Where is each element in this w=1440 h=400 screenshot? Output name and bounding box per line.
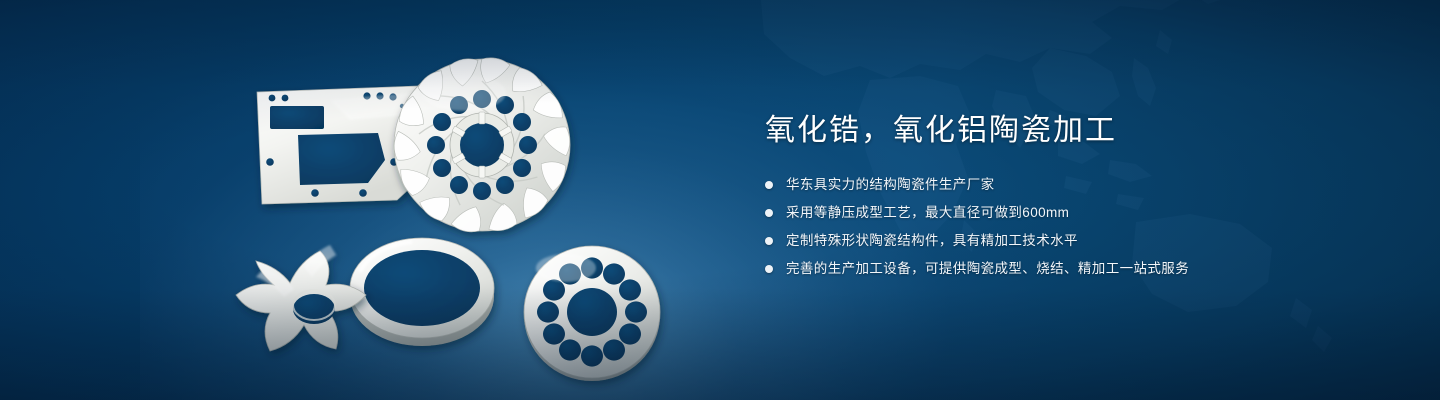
feature-text: 完善的生产加工设备，可提供陶瓷成型、烧结、精加工一站式服务 xyxy=(786,258,1189,279)
bullet-dot-icon xyxy=(765,209,773,217)
hero-banner: 氧化锆，氧化铝陶瓷加工 华东具实力的结构陶瓷件生产厂家 采用等静压成型工艺，最大… xyxy=(0,0,1440,400)
bullet-dot-icon xyxy=(765,265,773,273)
feature-text: 华东具实力的结构陶瓷件生产厂家 xyxy=(786,174,995,195)
feature-text: 采用等静压成型工艺，最大直径可做到600mm xyxy=(786,202,1069,223)
banner-copy: 氧化锆，氧化铝陶瓷加工 华东具实力的结构陶瓷件生产厂家 采用等静压成型工艺，最大… xyxy=(765,112,1385,286)
page-title: 氧化锆，氧化铝陶瓷加工 xyxy=(765,112,1385,150)
ceramic-cross-vane xyxy=(236,245,366,351)
ceramic-perforated-disc xyxy=(524,246,660,381)
ceramic-impeller-wheel xyxy=(391,54,573,236)
feature-list: 华东具实力的结构陶瓷件生产厂家 采用等静压成型工艺，最大直径可做到600mm 定… xyxy=(765,174,1385,279)
feature-text: 定制特殊形状陶瓷结构件，具有精加工技术水平 xyxy=(786,230,1078,251)
list-item: 完善的生产加工设备，可提供陶瓷成型、烧结、精加工一站式服务 xyxy=(765,258,1385,279)
ceramic-ring xyxy=(350,238,494,346)
list-item: 采用等静压成型工艺，最大直径可做到600mm xyxy=(765,202,1385,223)
product-photo-group xyxy=(230,40,710,380)
list-item: 华东具实力的结构陶瓷件生产厂家 xyxy=(765,174,1385,195)
list-item: 定制特殊形状陶瓷结构件，具有精加工技术水平 xyxy=(765,230,1385,251)
bullet-dot-icon xyxy=(765,237,773,245)
bullet-dot-icon xyxy=(765,181,773,189)
